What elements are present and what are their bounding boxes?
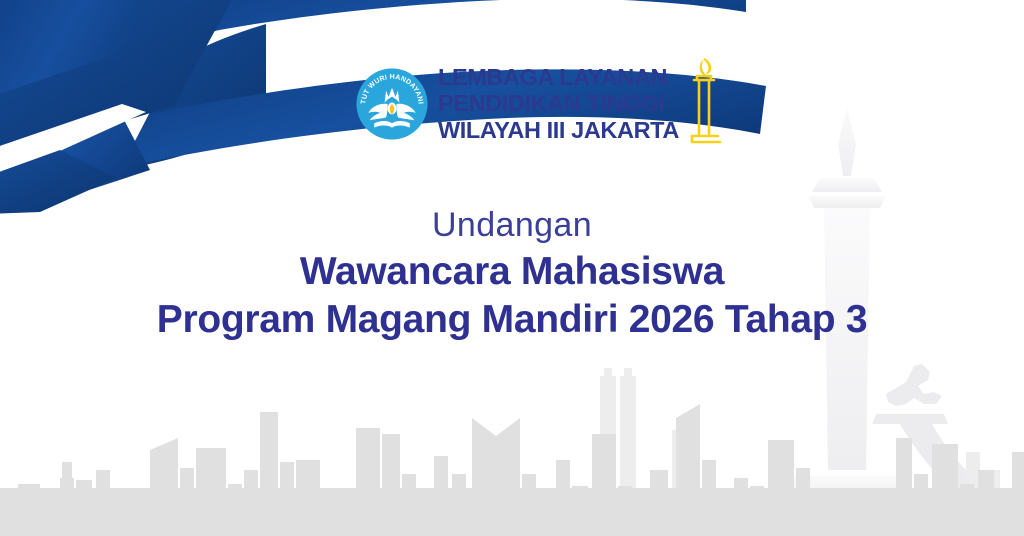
- invitation-title-line-2: Program Magang Mandiri 2026 Tahap 3: [0, 296, 1024, 344]
- headline-block: Undangan Wawancara Mahasiswa Program Mag…: [0, 205, 1024, 343]
- invitation-kicker: Undangan: [0, 205, 1024, 245]
- logo-line-1: LEMBAGA LAYANAN: [438, 64, 679, 91]
- invitation-poster: TUT WURI HANDAYANI LEMBAGA LAYANAN PENDI…: [0, 0, 1024, 536]
- tut-wuri-handayani-emblem: TUT WURI HANDAYANI: [355, 67, 429, 141]
- organization-logo-lockup: TUT WURI HANDAYANI LEMBAGA LAYANAN PENDI…: [355, 56, 724, 152]
- poster-content: TUT WURI HANDAYANI LEMBAGA LAYANAN PENDI…: [0, 0, 1024, 536]
- invitation-title-line-1: Wawancara Mahasiswa: [0, 248, 1024, 296]
- logo-line-2: PENDIDIKAN TINGGI: [438, 91, 679, 118]
- logo-text-block: LEMBAGA LAYANAN PENDIDIKAN TINGGI WILAYA…: [438, 64, 679, 144]
- monas-monument-icon: [684, 56, 724, 152]
- logo-line-3: WILAYAH III JAKARTA: [438, 117, 679, 144]
